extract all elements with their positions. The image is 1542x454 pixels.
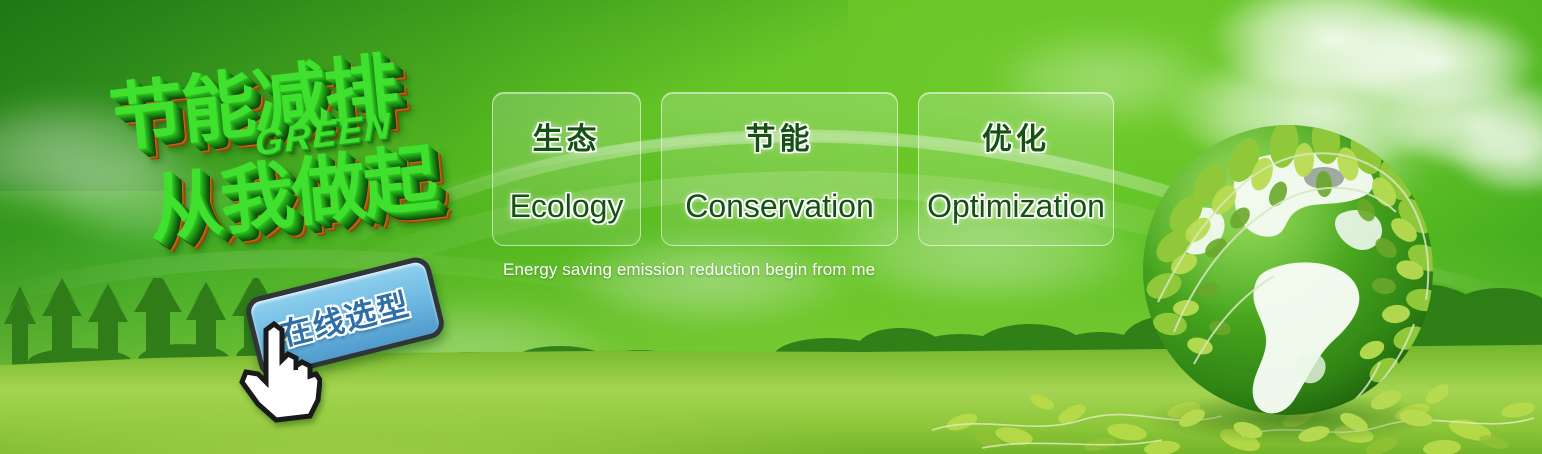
leafy-globe-graphic xyxy=(1128,118,1448,448)
feature-card-optimization[interactable]: 优化 Optimization xyxy=(918,92,1114,246)
slogan-3d-text: 节能减排 GREEN 从我做起 xyxy=(86,19,506,286)
feature-card-conservation[interactable]: 节能 Conservation xyxy=(661,92,898,246)
feature-card-title-en: Optimization xyxy=(927,188,1105,225)
feature-card-list: 生态 Ecology 节能 Conservation 优化 Optimizati… xyxy=(492,92,1114,246)
feature-card-title-cn: 优化 xyxy=(982,114,1050,158)
feature-card-ecology[interactable]: 生态 Ecology xyxy=(492,92,641,246)
feature-card-title-cn: 节能 xyxy=(746,114,814,158)
feature-card-title-en: Ecology xyxy=(510,188,624,225)
banner-tagline: Energy saving emission reduction begin f… xyxy=(503,260,875,280)
feature-card-title-cn: 生态 xyxy=(533,114,601,158)
online-selection-button-label: 在线选型 xyxy=(277,286,414,353)
feature-card-title-en: Conservation xyxy=(685,188,874,225)
green-energy-banner: 节能减排 GREEN 从我做起 在线选型 生态 Ecology 节能 Conse… xyxy=(0,0,1542,454)
